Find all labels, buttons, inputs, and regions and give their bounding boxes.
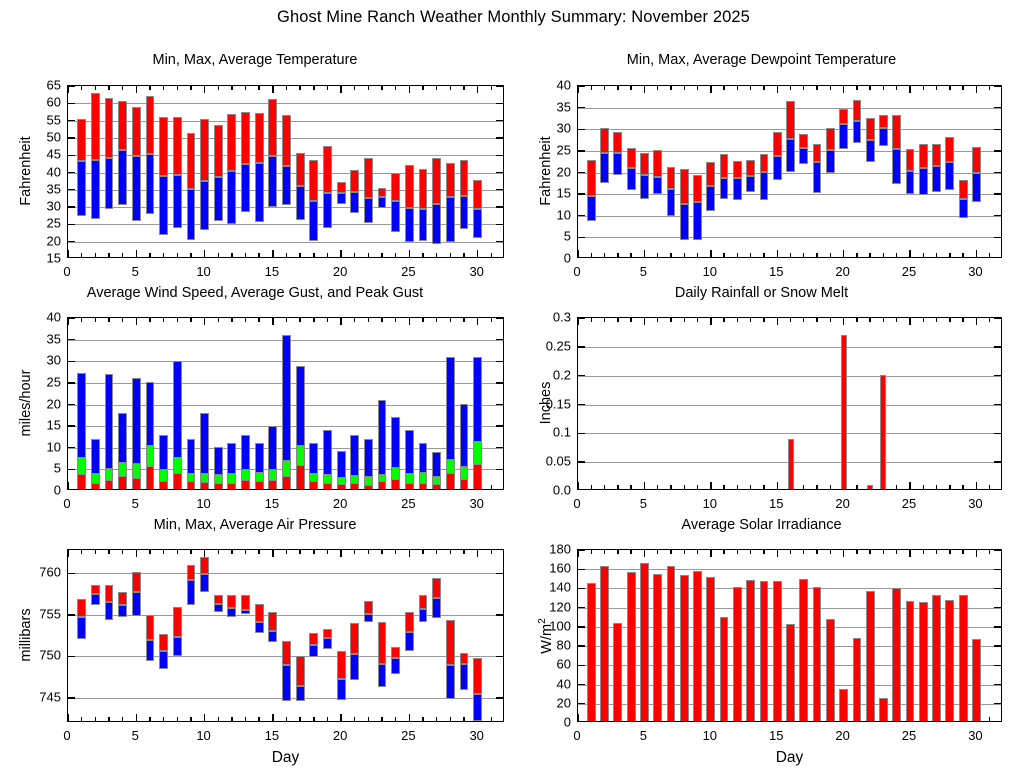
- bar-average-to-max: [667, 167, 676, 189]
- bar-min-to-average: [187, 189, 196, 240]
- bar-min-to-average: [906, 171, 915, 194]
- x-tick-mark: [830, 485, 831, 489]
- bar-average-to-max: [473, 180, 482, 208]
- x-tick-mark: [245, 253, 246, 257]
- y-tick-mark: [68, 404, 75, 405]
- y-tick-mark: [578, 665, 585, 666]
- y-tick-label: 0: [21, 483, 61, 498]
- x-tick-mark: [577, 714, 578, 721]
- x-tick-mark: [95, 253, 96, 257]
- bar-average-to-max: [132, 107, 141, 156]
- x-tick-mark: [204, 714, 205, 721]
- x-tick-label: 20: [835, 728, 849, 743]
- bar-average-to-max: [972, 147, 981, 174]
- bar-average-to-max: [600, 128, 609, 154]
- x-tick-mark: [286, 550, 287, 554]
- bar-solar-irradiance: [972, 639, 981, 722]
- x-tick-mark: [577, 318, 578, 325]
- x-tick-mark: [657, 253, 658, 257]
- y-tick-mark: [994, 85, 1001, 86]
- bar-average-to-max: [799, 134, 808, 148]
- x-tick-mark: [313, 318, 314, 322]
- bar-min-to-average: [446, 665, 455, 699]
- x-tick-mark: [299, 318, 300, 322]
- gridline-horizontal: [578, 347, 1001, 348]
- x-tick-label: 25: [902, 496, 916, 511]
- x-tick-mark: [313, 717, 314, 721]
- x-tick-mark: [591, 550, 592, 554]
- x-tick-mark: [604, 550, 605, 554]
- x-tick-mark: [108, 550, 109, 554]
- x-tick-mark: [299, 550, 300, 554]
- bar-average-to-max: [378, 188, 387, 197]
- x-tick-mark: [723, 550, 724, 554]
- x-tick-mark: [896, 318, 897, 322]
- x-tick-mark: [95, 86, 96, 90]
- x-tick-mark: [67, 550, 68, 557]
- bar-average-to-max: [853, 100, 862, 121]
- x-tick-mark: [409, 550, 410, 557]
- bar-average-wind-speed: [323, 483, 332, 490]
- x-tick-mark: [327, 318, 328, 322]
- bar-solar-irradiance: [866, 591, 875, 722]
- y-tick-label: 15: [21, 251, 61, 266]
- x-tick-mark: [177, 550, 178, 554]
- x-tick-mark: [723, 318, 724, 322]
- y-tick-mark: [994, 107, 1001, 108]
- x-tick-mark: [949, 253, 950, 257]
- x-tick-label: 30: [968, 728, 982, 743]
- x-tick-mark: [697, 318, 698, 322]
- x-tick-mark: [697, 550, 698, 554]
- bar-min-to-average: [200, 181, 209, 230]
- x-tick-mark: [258, 717, 259, 721]
- y-tick-mark: [496, 85, 503, 86]
- bar-min-to-average: [214, 604, 223, 611]
- x-tick-mark: [763, 550, 764, 554]
- x-tick-mark: [177, 318, 178, 322]
- x-tick-label: 15: [769, 264, 783, 279]
- x-tick-mark: [843, 250, 844, 257]
- bar-solar-irradiance: [653, 574, 662, 722]
- x-tick-mark: [710, 550, 711, 557]
- bar-solar-irradiance: [667, 566, 676, 722]
- y-tick-mark: [994, 193, 1001, 194]
- bar-min-to-average: [600, 153, 609, 183]
- bar-min-to-average: [118, 150, 127, 204]
- bar-average-to-max: [446, 620, 455, 665]
- x-tick-mark: [777, 318, 778, 325]
- x-tick-mark: [723, 253, 724, 257]
- bar-min-to-average: [118, 605, 127, 617]
- y-tick-mark: [68, 573, 75, 574]
- x-tick-mark: [409, 318, 410, 325]
- bar-average-to-max: [337, 651, 346, 679]
- x-tick-mark: [856, 485, 857, 489]
- x-tick-mark: [670, 86, 671, 90]
- bar-min-to-average: [282, 665, 291, 701]
- x-tick-mark: [830, 318, 831, 322]
- x-tick-mark: [856, 86, 857, 90]
- x-tick-label: 30: [469, 728, 483, 743]
- x-tick-mark: [163, 86, 164, 90]
- bar-min-to-average: [419, 609, 428, 621]
- y-tick-mark: [68, 241, 75, 242]
- x-tick-label: 15: [769, 496, 783, 511]
- x-tick-label: 25: [401, 264, 415, 279]
- x-tick-mark: [803, 550, 804, 554]
- x-tick-mark: [777, 482, 778, 489]
- y-axis-label-pressure: millibars: [18, 560, 34, 710]
- x-tick-mark: [81, 253, 82, 257]
- bar-average-to-max: [159, 634, 168, 651]
- x-tick-mark: [177, 717, 178, 721]
- x-tick-mark: [122, 550, 123, 554]
- x-tick-mark: [657, 550, 658, 554]
- x-tick-mark: [604, 318, 605, 322]
- x-tick-mark: [976, 250, 977, 257]
- bar-average-to-max: [587, 160, 596, 196]
- y-tick-mark: [994, 346, 1001, 347]
- bar-min-to-average: [241, 610, 250, 614]
- bar-average-to-max: [105, 98, 114, 158]
- x-tick-mark: [299, 717, 300, 721]
- bar-rainfall: [880, 375, 886, 490]
- bar-average-to-max: [173, 117, 182, 175]
- y-tick-mark: [68, 697, 75, 698]
- bar-solar-irradiance: [879, 698, 888, 722]
- x-tick-label: 25: [401, 496, 415, 511]
- bar-average-to-max: [241, 112, 250, 164]
- x-tick-mark: [604, 253, 605, 257]
- x-tick-mark: [340, 86, 341, 93]
- bar-average-to-max: [337, 182, 346, 192]
- y-axis-label-solar: W/m2: [537, 560, 555, 710]
- x-tick-mark: [923, 253, 924, 257]
- bar-average-to-max: [268, 612, 277, 631]
- x-tick-mark: [190, 318, 191, 322]
- bar-min-to-average: [77, 617, 86, 639]
- x-tick-mark: [122, 717, 123, 721]
- x-tick-mark: [591, 318, 592, 322]
- bar-average-to-max: [282, 115, 291, 166]
- x-tick-mark: [231, 318, 232, 322]
- x-tick-mark: [354, 550, 355, 554]
- bar-min-to-average: [587, 196, 596, 220]
- bar-min-to-average: [959, 199, 968, 218]
- y-tick-mark: [68, 469, 75, 470]
- x-tick-mark: [231, 86, 232, 90]
- x-tick-mark: [149, 86, 150, 90]
- x-tick-mark: [368, 717, 369, 721]
- x-tick-mark: [286, 86, 287, 90]
- y-tick-mark: [68, 614, 75, 615]
- x-tick-label: 10: [703, 728, 717, 743]
- x-tick-mark: [450, 86, 451, 90]
- x-tick-mark: [258, 253, 259, 257]
- x-tick-mark: [258, 86, 259, 90]
- x-tick-mark: [777, 250, 778, 257]
- y-tick-mark: [578, 433, 585, 434]
- y-tick-mark: [578, 404, 585, 405]
- y-tick-mark: [994, 569, 1001, 570]
- bar-solar-irradiance: [813, 587, 822, 722]
- x-tick-mark: [81, 86, 82, 90]
- x-tick-mark: [95, 717, 96, 721]
- bar-solar-irradiance: [932, 595, 941, 722]
- x-tick-label: 15: [769, 728, 783, 743]
- x-tick-mark: [790, 86, 791, 90]
- bar-min-to-average: [91, 160, 100, 218]
- bar-average-to-max: [460, 653, 469, 664]
- bar-min-to-average: [720, 178, 729, 200]
- bar-average-wind-speed: [268, 480, 277, 490]
- x-tick-mark: [710, 318, 711, 325]
- x-tick-mark: [803, 86, 804, 90]
- x-tick-mark: [790, 253, 791, 257]
- x-tick-label: 15: [265, 496, 279, 511]
- x-tick-mark: [340, 250, 341, 257]
- x-tick-mark: [136, 86, 137, 93]
- x-tick-mark: [949, 485, 950, 489]
- x-tick-mark: [936, 318, 937, 322]
- bar-average-to-max: [391, 647, 400, 658]
- x-tick-mark: [710, 482, 711, 489]
- y-tick-mark: [496, 155, 503, 156]
- y-tick-mark: [578, 549, 585, 550]
- bar-average-to-max: [786, 101, 795, 139]
- y-tick-mark: [578, 150, 585, 151]
- y-tick-mark: [68, 155, 75, 156]
- x-tick-mark: [327, 550, 328, 554]
- x-tick-mark: [909, 86, 910, 93]
- x-tick-mark: [368, 86, 369, 90]
- bar-solar-irradiance: [799, 579, 808, 722]
- bar-average-to-max: [892, 115, 901, 150]
- x-tick-mark: [723, 485, 724, 489]
- bar-min-to-average: [309, 201, 318, 241]
- y-tick-mark: [68, 137, 75, 138]
- bar-average-to-max: [473, 658, 482, 694]
- bar-min-to-average: [296, 686, 305, 701]
- x-tick-mark: [491, 318, 492, 322]
- x-tick-label: 25: [902, 728, 916, 743]
- page-title: Ghost Mine Ranch Weather Monthly Summary…: [0, 8, 1027, 27]
- y-tick-mark: [578, 569, 585, 570]
- x-tick-label: 30: [469, 264, 483, 279]
- bar-average-to-max: [350, 623, 359, 654]
- bar-average-to-max: [733, 161, 742, 178]
- bar-solar-irradiance: [680, 575, 689, 722]
- x-tick-mark: [976, 86, 977, 93]
- x-tick-mark: [272, 318, 273, 325]
- bar-min-to-average: [323, 638, 332, 649]
- y-axis-label-temperature: Fahrenheit: [18, 96, 34, 246]
- x-tick-mark: [591, 485, 592, 489]
- x-tick-mark: [327, 86, 328, 90]
- bar-solar-irradiance: [853, 638, 862, 722]
- bar-min-to-average: [460, 196, 469, 229]
- y-tick-mark: [994, 703, 1001, 704]
- x-tick-mark: [989, 253, 990, 257]
- x-tick-mark: [354, 318, 355, 322]
- x-tick-mark: [218, 717, 219, 721]
- bar-solar-irradiance: [746, 580, 755, 722]
- y-tick-mark: [994, 129, 1001, 130]
- y-tick-mark: [496, 120, 503, 121]
- bar-average-to-max: [945, 137, 954, 162]
- x-tick-mark: [422, 253, 423, 257]
- x-tick-mark: [395, 717, 396, 721]
- x-tick-mark: [340, 318, 341, 325]
- x-tick-mark: [381, 717, 382, 721]
- bar-min-to-average: [91, 594, 100, 605]
- bar-min-to-average: [446, 197, 455, 242]
- x-tick-label: 0: [573, 264, 580, 279]
- x-tick-mark: [354, 86, 355, 90]
- bar-average-to-max: [118, 101, 127, 150]
- x-tick-mark: [644, 250, 645, 257]
- chart-title-pressure: Min, Max, Average Air Pressure: [0, 517, 510, 533]
- bar-min-to-average: [405, 632, 414, 651]
- bar-average-to-max: [214, 125, 223, 177]
- x-tick-mark: [450, 318, 451, 322]
- gridline-horizontal: [578, 433, 1001, 434]
- x-tick-mark: [381, 550, 382, 554]
- y-tick-mark: [994, 549, 1001, 550]
- x-tick-mark: [272, 550, 273, 557]
- bar-average-wind-speed: [350, 483, 359, 490]
- x-tick-mark: [803, 253, 804, 257]
- x-tick-mark: [883, 550, 884, 554]
- y-tick-mark: [68, 224, 75, 225]
- y-tick-mark: [994, 588, 1001, 589]
- bar-min-to-average: [972, 173, 981, 202]
- x-tick-mark: [816, 318, 817, 322]
- gridline-horizontal: [578, 405, 1001, 406]
- x-tick-mark: [856, 318, 857, 322]
- x-tick-mark: [136, 250, 137, 257]
- y-tick-mark: [496, 224, 503, 225]
- bar-average-to-max: [187, 565, 196, 580]
- x-tick-mark: [231, 253, 232, 257]
- x-tick-mark: [368, 550, 369, 554]
- bar-average-wind-speed: [105, 480, 114, 490]
- bar-min-to-average: [132, 156, 141, 221]
- x-tick-mark: [989, 318, 990, 322]
- x-tick-label: 20: [333, 496, 347, 511]
- x-tick-label: 5: [640, 264, 647, 279]
- y-tick-mark: [994, 607, 1001, 608]
- x-tick-mark: [750, 318, 751, 322]
- x-tick-mark: [245, 717, 246, 721]
- bar-min-to-average: [853, 121, 862, 143]
- x-tick-mark: [697, 86, 698, 90]
- bar-rainfall: [841, 335, 847, 490]
- x-tick-mark: [630, 550, 631, 554]
- x-tick-label: 0: [573, 496, 580, 511]
- x-tick-mark: [436, 86, 437, 90]
- x-tick-mark: [710, 250, 711, 257]
- x-tick-mark: [909, 318, 910, 325]
- x-tick-mark: [286, 253, 287, 257]
- bar-min-to-average: [105, 602, 114, 620]
- x-tick-mark: [491, 550, 492, 554]
- bar-min-to-average: [773, 156, 782, 181]
- bar-min-to-average: [214, 177, 223, 221]
- y-tick-mark: [994, 626, 1001, 627]
- x-tick-mark: [299, 253, 300, 257]
- bar-average-to-max: [405, 165, 414, 208]
- x-tick-mark: [923, 86, 924, 90]
- x-tick-mark: [204, 86, 205, 93]
- x-tick-mark: [450, 253, 451, 257]
- x-tick-mark: [477, 86, 478, 93]
- x-tick-mark: [272, 250, 273, 257]
- y-tick-mark: [496, 172, 503, 173]
- y-axis-label-rainfall: Inches: [538, 328, 554, 478]
- x-tick-label: 15: [265, 728, 279, 743]
- weather-summary-page: Ghost Mine Ranch Weather Monthly Summary…: [0, 0, 1027, 772]
- x-tick-label: 15: [265, 264, 279, 279]
- bar-solar-irradiance: [826, 619, 835, 722]
- bar-min-to-average: [146, 154, 155, 214]
- plot-area-rainfall: [577, 317, 1002, 490]
- x-tick-mark: [750, 485, 751, 489]
- bar-average-wind-speed: [296, 465, 305, 490]
- x-tick-mark: [190, 550, 191, 554]
- bar-average-wind-speed: [227, 483, 236, 490]
- x-tick-mark: [381, 253, 382, 257]
- x-tick-mark: [577, 482, 578, 489]
- bar-average-wind-speed: [173, 473, 182, 490]
- x-tick-mark: [286, 717, 287, 721]
- x-tick-mark: [670, 318, 671, 322]
- bar-min-to-average: [746, 176, 755, 192]
- bar-solar-irradiance: [919, 602, 928, 722]
- bar-average-to-max: [419, 595, 428, 609]
- bar-average-to-max: [309, 160, 318, 201]
- y-tick-mark: [496, 137, 503, 138]
- x-tick-mark: [258, 318, 259, 322]
- bar-average-to-max: [350, 170, 359, 191]
- y-tick-mark: [68, 206, 75, 207]
- x-tick-mark: [477, 550, 478, 557]
- bar-average-wind-speed: [200, 482, 209, 490]
- x-tick-mark: [630, 318, 631, 322]
- bar-average-wind-speed: [378, 481, 387, 490]
- x-tick-label: 30: [968, 264, 982, 279]
- x-tick-mark: [723, 86, 724, 90]
- x-tick-mark: [190, 717, 191, 721]
- x-tick-mark: [644, 550, 645, 557]
- y-tick-mark: [496, 469, 503, 470]
- x-tick-mark: [816, 86, 817, 90]
- bar-min-to-average: [200, 574, 209, 591]
- bar-min-to-average: [227, 171, 236, 224]
- bar-average-to-max: [826, 128, 835, 149]
- bar-average-wind-speed: [405, 483, 414, 490]
- bar-solar-irradiance: [613, 623, 622, 722]
- x-tick-mark: [883, 318, 884, 322]
- x-tick-mark: [750, 253, 751, 257]
- bar-average-wind-speed: [187, 481, 196, 490]
- x-tick-mark: [577, 550, 578, 557]
- x-tick-mark: [218, 318, 219, 322]
- bar-average-to-max: [879, 115, 888, 128]
- x-tick-mark: [463, 550, 464, 554]
- x-axis-label-pressure: Day: [67, 749, 504, 767]
